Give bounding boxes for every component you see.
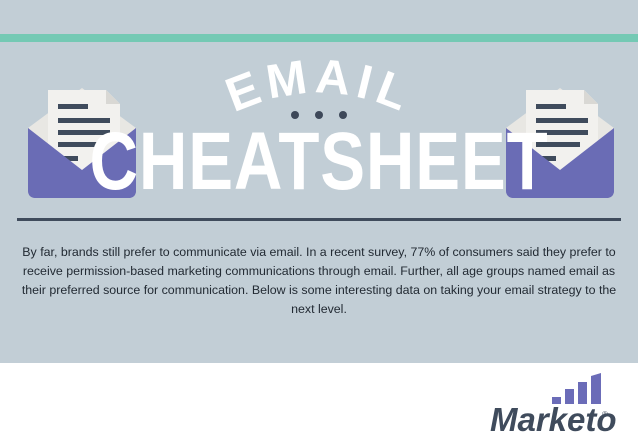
intro-paragraph: By far, brands still prefer to communica… [14,243,624,319]
hero-divider [17,218,621,221]
infographic-page: EMAIL CHEATSHEET By far, brands still pr… [0,0,638,447]
title-email-arc: EMAIL [0,58,638,114]
marketo-logo[interactable]: Marketo ® [490,373,620,435]
title-email-text: EMAIL [219,58,420,114]
top-accent-stripe [0,34,638,42]
hero-panel: EMAIL CHEATSHEET By far, brands still pr… [0,0,638,363]
logo-wordmark: Marketo [490,401,617,435]
footer-bar: Marketo ® [0,363,638,447]
svg-text:EMAIL: EMAIL [219,58,420,114]
title-block: EMAIL CHEATSHEET [0,58,638,208]
logo-bars-icon [552,373,601,404]
logo-trademark: ® [602,410,608,419]
title-cheatsheet-text: CHEATSHEET [57,121,580,203]
